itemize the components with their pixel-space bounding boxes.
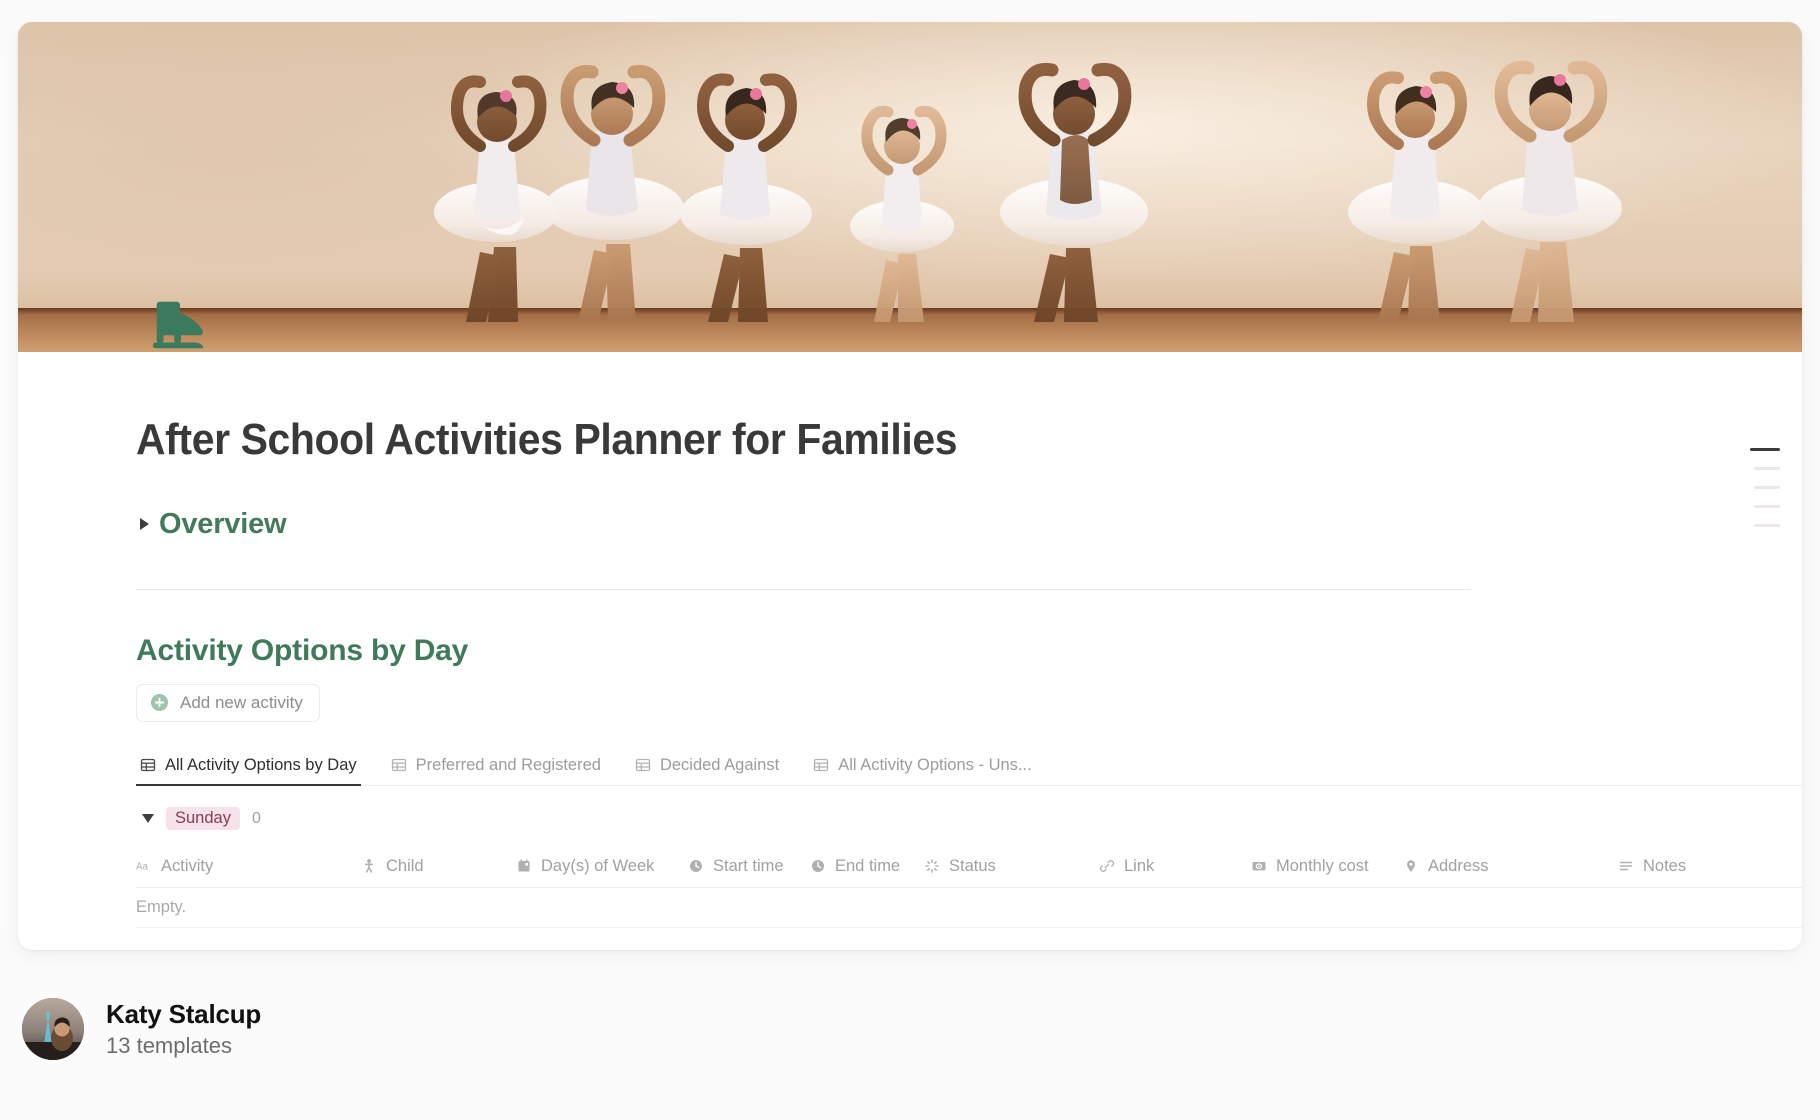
author-text: Katy Stalcup 13 templates bbox=[106, 999, 261, 1059]
column-label: Day(s) of Week bbox=[541, 857, 654, 876]
outline-item[interactable] bbox=[1754, 524, 1780, 527]
author-name: Katy Stalcup bbox=[106, 999, 261, 1030]
link-icon bbox=[1099, 858, 1115, 874]
column-label: Link bbox=[1124, 857, 1154, 876]
column-header-address[interactable]: Address bbox=[1403, 857, 1618, 876]
tab-all-activity-options-by-day[interactable]: All Activity Options by Day bbox=[136, 756, 361, 785]
column-header-notes[interactable]: Notes bbox=[1618, 857, 1686, 876]
tab-label: Decided Against bbox=[660, 756, 779, 775]
column-header-monthly-cost[interactable]: Monthly cost bbox=[1251, 857, 1403, 876]
overview-toggle[interactable]: Overview bbox=[136, 508, 1802, 541]
table-icon bbox=[813, 757, 829, 773]
group-header-sunday[interactable]: Sunday 0 bbox=[136, 802, 1802, 836]
tab-label: All Activity Options - Uns... bbox=[838, 756, 1031, 775]
column-header-child[interactable]: Child bbox=[361, 857, 516, 876]
column-label: Monthly cost bbox=[1276, 857, 1369, 876]
column-label: End time bbox=[835, 857, 900, 876]
empty-row-text: Empty. bbox=[136, 898, 186, 917]
column-label: Start time bbox=[713, 857, 784, 876]
ballet-dancers-illustration bbox=[18, 22, 1802, 352]
outline-item[interactable] bbox=[1754, 505, 1780, 508]
template-card: After School Activities Planner for Fami… bbox=[18, 22, 1802, 950]
overview-toggle-label: Overview bbox=[159, 508, 286, 541]
text-aa-icon: Aa bbox=[136, 858, 152, 874]
money-icon bbox=[1251, 858, 1267, 874]
plus-circle-icon bbox=[150, 693, 169, 712]
add-new-activity-label: Add new activity bbox=[180, 693, 303, 713]
column-header-days-of-week[interactable]: Day(s) of Week bbox=[516, 857, 688, 876]
triangle-down-icon[interactable] bbox=[142, 814, 154, 823]
column-label: Address bbox=[1428, 857, 1489, 876]
column-header-start-time[interactable]: Start time bbox=[688, 857, 810, 876]
tab-label: Preferred and Registered bbox=[416, 756, 601, 775]
tab-label: All Activity Options by Day bbox=[165, 756, 357, 775]
table-icon bbox=[140, 757, 156, 773]
person-icon bbox=[361, 858, 377, 874]
column-header-activity[interactable]: Aa Activity bbox=[136, 857, 361, 876]
page-title: After School Activities Planner for Fami… bbox=[136, 416, 1685, 464]
table-row[interactable]: Empty. bbox=[136, 888, 1802, 928]
outline-item[interactable] bbox=[1750, 448, 1780, 451]
author-block[interactable]: Katy Stalcup 13 templates bbox=[22, 998, 261, 1060]
view-tabs: All Activity Options by Day Preferred an… bbox=[136, 748, 1802, 786]
clock-icon bbox=[810, 858, 826, 874]
tab-preferred-and-registered[interactable]: Preferred and Registered bbox=[387, 756, 605, 785]
table-icon bbox=[391, 757, 407, 773]
ice-skate-icon bbox=[146, 294, 212, 356]
status-spinner-icon bbox=[924, 858, 940, 874]
cover-image bbox=[18, 22, 1802, 352]
lines-icon bbox=[1618, 858, 1634, 874]
table-of-contents-rail[interactable] bbox=[1746, 448, 1780, 527]
clock-icon bbox=[688, 858, 704, 874]
column-label: Status bbox=[949, 857, 996, 876]
add-new-activity-button[interactable]: Add new activity bbox=[136, 684, 320, 722]
table-icon bbox=[635, 757, 651, 773]
group-count: 0 bbox=[252, 810, 261, 828]
section-title: Activity Options by Day bbox=[136, 634, 1802, 668]
tab-all-activity-options-unsorted[interactable]: All Activity Options - Uns... bbox=[809, 756, 1035, 785]
column-header-link[interactable]: Link bbox=[1099, 857, 1251, 876]
svg-text:Aa: Aa bbox=[136, 862, 149, 873]
section-divider bbox=[136, 589, 1471, 590]
table-header-row: Aa Activity Child bbox=[136, 846, 1802, 888]
avatar bbox=[22, 998, 84, 1060]
triangle-right-icon[interactable] bbox=[140, 518, 149, 530]
template-preview-page: After School Activities Planner for Fami… bbox=[0, 0, 1820, 1120]
column-header-status[interactable]: Status bbox=[924, 857, 1099, 876]
author-template-count: 13 templates bbox=[106, 1033, 261, 1059]
column-label: Notes bbox=[1643, 857, 1686, 876]
map-pin-icon bbox=[1403, 858, 1419, 874]
column-label: Child bbox=[386, 857, 424, 876]
outline-item[interactable] bbox=[1754, 467, 1780, 470]
page-content: After School Activities Planner for Fami… bbox=[18, 416, 1802, 928]
tab-decided-against[interactable]: Decided Against bbox=[631, 756, 783, 785]
outline-item[interactable] bbox=[1754, 486, 1780, 489]
column-header-end-time[interactable]: End time bbox=[810, 857, 924, 876]
column-label: Activity bbox=[161, 857, 213, 876]
status-badge: Sunday bbox=[166, 807, 240, 830]
avatar-image bbox=[22, 998, 84, 1060]
calendar-icon bbox=[516, 858, 532, 874]
